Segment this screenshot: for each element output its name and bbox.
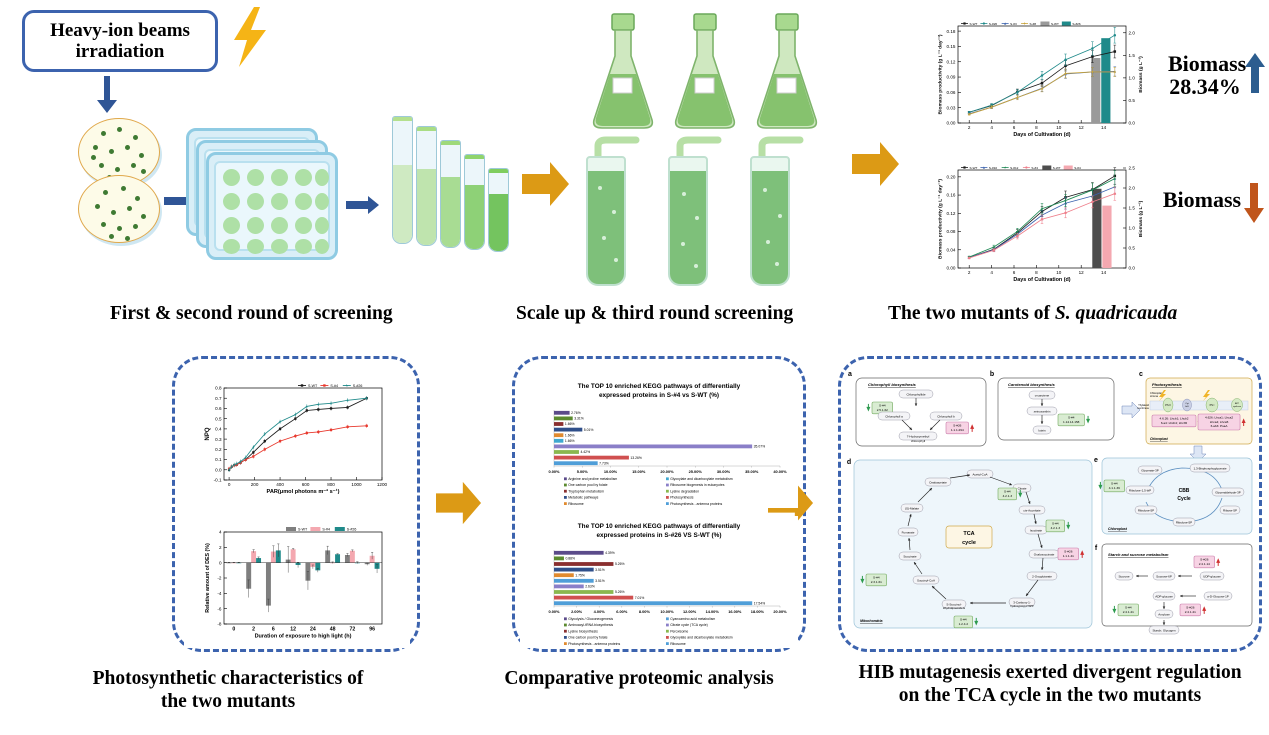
svg-text:lutein: lutein (1038, 428, 1046, 432)
svg-text:0.16: 0.16 (947, 193, 956, 198)
svg-text:0: 0 (228, 482, 231, 487)
orange-arrow-right-3 (436, 480, 482, 526)
svg-text:1.66%: 1.66% (565, 433, 575, 437)
svg-text:Acetyl-CoA: Acetyl-CoA (972, 472, 987, 476)
svg-text:14.00%: 14.00% (706, 609, 720, 614)
svg-text:hydroxypropyl-ThPP: hydroxypropyl-ThPP (1010, 604, 1034, 608)
svg-text:1.1.1.294: 1.1.1.294 (951, 428, 964, 432)
biomass-up-label: Biomass28.34% (1168, 52, 1242, 98)
svg-text:24: 24 (310, 627, 316, 633)
svg-text:6.00%: 6.00% (616, 609, 628, 614)
photobioreactor-1 (586, 156, 626, 286)
arrow-up-icon (1244, 52, 1266, 94)
svg-text:48: 48 (330, 627, 336, 633)
lightning-bolt-icon (228, 6, 272, 68)
growth-chart-top: 0.000.030.060.090.120.150.180.00.51.01.5… (912, 8, 1162, 150)
erlenmeyer-flask-1 (586, 12, 660, 132)
svg-text:0.3: 0.3 (215, 437, 222, 442)
svg-text:S-#4: S-#4 (1031, 166, 1038, 170)
svg-text:Photosynthesis - antenna prote: Photosynthesis - antenna proteins (568, 642, 620, 646)
svg-text:5.26%: 5.26% (615, 562, 625, 566)
svg-text:10.00%: 10.00% (604, 469, 618, 474)
svg-text:Biomass (g L⁻¹): Biomass (g L⁻¹) (1138, 200, 1144, 237)
svg-text:c: c (1139, 371, 1143, 378)
svg-text:1.0: 1.0 (1129, 226, 1136, 231)
svg-text:stroma: stroma (1150, 394, 1158, 398)
svg-text:2: 2 (219, 545, 222, 550)
photobioreactor-3 (750, 156, 790, 286)
svg-text:S-#12: S-#12 (1010, 166, 1019, 170)
svg-text:600: 600 (302, 482, 310, 487)
svg-text:16.00%: 16.00% (728, 609, 742, 614)
svg-text:Fumarate: Fumarate (902, 530, 915, 534)
svg-text:α-carotene: α-carotene (1035, 393, 1050, 397)
svg-text:b6f: b6f (1185, 406, 1188, 408)
svg-text:2.0: 2.0 (1129, 30, 1136, 35)
npq-chart: -0.10.00.10.20.30.40.50.60.70.8020040060… (184, 372, 410, 512)
svg-text:1,3-Bisphosphoglycerate: 1,3-Bisphosphoglycerate (1193, 466, 1226, 470)
svg-text:0.09: 0.09 (947, 75, 956, 80)
svg-text:14: 14 (1101, 270, 1107, 275)
arrow-right-icon-2 (346, 196, 380, 214)
svg-text:Cycle: Cycle (1177, 496, 1191, 502)
svg-text:d: d (847, 459, 851, 466)
svg-text:One carbon pool by folate: One carbon pool by folate (568, 483, 607, 487)
svg-text:0.00: 0.00 (947, 266, 956, 271)
svg-text:Citrate: Citrate (1018, 486, 1027, 490)
svg-text:0.5: 0.5 (1129, 246, 1136, 251)
svg-text:12: 12 (1079, 270, 1085, 275)
svg-text:Amylose: Amylose (1158, 612, 1170, 616)
svg-text:Aminoacyl-tRNA biosynthesis: Aminoacyl-tRNA biosynthesis (568, 623, 613, 627)
erlenmeyer-flask-2 (668, 12, 742, 132)
svg-text:S-WT: S-WT (970, 22, 978, 26)
svg-text:Succinyl-CoA: Succinyl-CoA (917, 578, 935, 582)
svg-text:1.5: 1.5 (1129, 53, 1136, 58)
svg-text:0.2: 0.2 (215, 447, 222, 452)
svg-text:14: 14 (1101, 125, 1107, 130)
svg-text:6: 6 (272, 627, 275, 633)
svg-text:2: 2 (968, 270, 971, 275)
svg-text:12.00%: 12.00% (683, 609, 697, 614)
culture-tube-2 (416, 126, 437, 246)
svg-text:Ribulose-1,5-biP: Ribulose-1,5-biP (1129, 488, 1151, 492)
svg-text:Ribosome: Ribosome (670, 642, 686, 646)
orange-arrow-right-1 (522, 160, 570, 208)
svg-text:Metabolic pathways: Metabolic pathways (568, 496, 598, 500)
svg-text:0.6: 0.6 (215, 406, 222, 411)
svg-text:Glyoxylate and dicarboxylate m: Glyoxylate and dicarboxylate metabolism (670, 636, 733, 640)
svg-text:4: 4 (990, 270, 993, 275)
svg-text:1.0: 1.0 (1129, 76, 1136, 81)
svg-text:Chlorophyll biosynthesis: Chlorophyll biosynthesis (868, 382, 917, 387)
svg-text:35.00%: 35.00% (745, 469, 759, 474)
svg-text:1.66%: 1.66% (565, 422, 575, 426)
svg-text:The TOP 10 enriched KEGG pathw: The TOP 10 enriched KEGG pathways of dif… (578, 383, 741, 390)
svg-text:α-D-Glucose-1P: α-D-Glucose-1P (1207, 594, 1229, 598)
svg-text:(S)-Malate: (S)-Malate (905, 506, 919, 510)
svg-text:ADP-glucose: ADP-glucose (1155, 594, 1173, 598)
svg-text:0.00: 0.00 (947, 121, 956, 126)
svg-text:Biomass productivity (g L⁻¹ da: Biomass productivity (g L⁻¹ day⁻¹) (938, 179, 944, 259)
svg-text:Tryptophan metabolism: Tryptophan metabolism (568, 489, 604, 493)
svg-text:zeinoxanthin: zeinoxanthin (1034, 409, 1051, 413)
svg-text:2.0: 2.0 (1129, 186, 1136, 191)
svg-text:30.00%: 30.00% (717, 469, 731, 474)
svg-text:S-Succinyl-: S-Succinyl- (946, 602, 961, 606)
svg-text:2.5.1.62: 2.5.1.62 (877, 408, 888, 412)
svg-text:4.42%: 4.42% (580, 450, 590, 454)
svg-text:7-Hydroxymethyl: 7-Hydroxymethyl (907, 434, 930, 438)
svg-text:8: 8 (1035, 125, 1038, 130)
svg-text:Sucrose-6P: Sucrose-6P (1156, 574, 1172, 578)
svg-text:Ribulose-5P: Ribulose-5P (1176, 520, 1192, 524)
svg-text:Cyt: Cyt (1185, 402, 1189, 405)
svg-text:35.07%: 35.07% (754, 445, 766, 449)
orange-arrow-right-2 (852, 140, 900, 188)
svg-text:Citrate cycle (TCA cycle): Citrate cycle (TCA cycle) (670, 623, 708, 627)
svg-text:5.01%: 5.01% (584, 428, 594, 432)
culture-tube-4 (464, 154, 485, 250)
svg-text:72: 72 (349, 627, 355, 633)
svg-text:Mitochondria: Mitochondria (860, 619, 883, 623)
caption-pathways: HIB mutagenesis exerted divergent regula… (838, 662, 1262, 707)
culture-tube-1 (392, 116, 413, 244)
svg-text:1000: 1000 (351, 482, 362, 487)
svg-text:0.06: 0.06 (947, 90, 956, 95)
svg-text:One carbon pool by folate: One carbon pool by folate (568, 636, 607, 640)
svg-text:7.01%: 7.01% (635, 596, 645, 600)
hib-irradiation-label: Heavy-ion beams irradiation (25, 20, 215, 63)
svg-text:b: b (990, 371, 994, 378)
svg-text:0.20: 0.20 (947, 174, 956, 179)
svg-text:0.12: 0.12 (947, 211, 956, 216)
svg-text:S-#4: S-#4 (1074, 166, 1081, 170)
culture-tube-3 (440, 140, 461, 248)
svg-text:1200: 1200 (377, 482, 388, 487)
svg-text:6: 6 (1013, 270, 1016, 275)
svg-text:0.03: 0.03 (947, 105, 956, 110)
svg-text:Ribulose-5P: Ribulose-5P (1138, 508, 1154, 512)
svg-text:Biomass (g L⁻¹): Biomass (g L⁻¹) (1138, 56, 1144, 93)
svg-text:0.1: 0.1 (215, 457, 222, 462)
petri-dish-2 (78, 175, 160, 243)
svg-text:chlorophyll: chlorophyll (911, 439, 926, 443)
svg-text:TCA: TCA (963, 531, 974, 537)
svg-text:4.39%: 4.39% (605, 551, 615, 555)
svg-text:6.a4: Lhcb4; Lhcb5: 6.a4: Lhcb4; Lhcb5 (1161, 421, 1188, 425)
svg-text:8: 8 (1035, 270, 1038, 275)
photobioreactor-2 (668, 156, 708, 286)
svg-text:Photosynthesis: Photosynthesis (670, 496, 694, 500)
svg-text:Glycerate-3P: Glycerate-3P (1141, 468, 1159, 472)
svg-text:S-#3: S-#3 (1010, 22, 1017, 26)
svg-text:S-WT: S-WT (1053, 166, 1061, 170)
svg-text:Chlorophyll b: Chlorophyll b (937, 414, 955, 418)
svg-text:1.5: 1.5 (1129, 206, 1136, 211)
svg-text:Succinate: Succinate (903, 554, 917, 558)
svg-text:S-#8: S-#8 (1030, 22, 1037, 26)
svg-text:0.08: 0.08 (947, 229, 956, 234)
svg-text:0.12: 0.12 (947, 59, 956, 64)
svg-text:2.3.1.61: 2.3.1.61 (871, 580, 882, 584)
svg-text:synthase: synthase (1233, 405, 1242, 408)
svg-text:Starch; Glycogen: Starch; Glycogen (1152, 628, 1175, 632)
svg-text:25.00%: 25.00% (689, 469, 703, 474)
svg-text:Arginine and proline metabolis: Arginine and proline metabolism (568, 477, 617, 481)
svg-text:S-#10: S-#10 (989, 166, 998, 170)
svg-text:membrane: membrane (1137, 407, 1150, 410)
svg-text:Glyoxylate and dicarboxylate m: Glyoxylate and dicarboxylate metabolism (670, 477, 733, 481)
svg-text:Photosynthesis - antenna prote: Photosynthesis - antenna proteins (670, 502, 722, 506)
caption-scaleup: Scale up & third round screening (516, 303, 793, 325)
svg-text:S-#26: S-#26 (989, 22, 998, 26)
svg-text:Duration of exposure to high l: Duration of exposure to high light (h) (255, 633, 352, 639)
svg-text:2.4.1.21: 2.4.1.21 (1185, 610, 1196, 614)
svg-text:400: 400 (276, 482, 284, 487)
svg-text:Days of Cultivation (d): Days of Cultivation (d) (1013, 132, 1070, 138)
svg-text:PS I: PS I (1210, 404, 1215, 407)
svg-text:Ribosome biogenesis in eukaryo: Ribosome biogenesis in eukaryotes (670, 483, 725, 487)
caption-proteomic: Comparative proteomic analysis (442, 668, 836, 691)
svg-text:S-#26: S-#26 (353, 384, 363, 388)
svg-text:0.0: 0.0 (1129, 121, 1136, 126)
svg-text:f: f (1095, 545, 1098, 552)
svg-text:CBB: CBB (1179, 488, 1190, 494)
culture-tube-5 (488, 168, 509, 252)
svg-text:Oxalosuccinate: Oxalosuccinate (1034, 552, 1055, 556)
svg-text:-6: -6 (217, 606, 222, 611)
svg-text:S-#4: S-#4 (322, 528, 330, 532)
svg-text:0.0: 0.0 (215, 467, 222, 472)
svg-text:Glycolysis / Gluconeogenesis: Glycolysis / Gluconeogenesis (568, 617, 613, 621)
svg-text:expressed proteins in S-#26 VS: expressed proteins in S-#26 VS S-WT (%) (596, 532, 721, 539)
svg-text:Peroxisome: Peroxisome (670, 629, 688, 633)
svg-text:a: a (848, 371, 852, 378)
svg-text:17.54%: 17.54% (754, 601, 766, 605)
svg-text:S-#26: S-#26 (1072, 22, 1081, 26)
svg-text:1.1.1.41: 1.1.1.41 (1063, 554, 1074, 558)
svg-text:S-#26: S-#26 (347, 528, 357, 532)
svg-text:0.7: 0.7 (215, 396, 222, 401)
svg-text:0.00%: 0.00% (548, 609, 560, 614)
svg-text:0.88%: 0.88% (565, 557, 575, 561)
svg-text:12: 12 (1079, 125, 1085, 130)
svg-text:2: 2 (252, 627, 255, 633)
svg-text:Days of Cultivation (d): Days of Cultivation (d) (1013, 277, 1070, 283)
svg-text:S-WT: S-WT (308, 384, 318, 388)
svg-text:6.ab3: PsaA: 6.ab3: PsaA (1211, 424, 1229, 428)
svg-text:0.8: 0.8 (215, 386, 222, 391)
svg-text:Chloroplast: Chloroplast (1150, 437, 1169, 441)
svg-text:cis-Aconitate: cis-Aconitate (1023, 508, 1041, 512)
svg-text:2-Oxoglutarate: 2-Oxoglutarate (1032, 574, 1052, 578)
svg-text:10.00%: 10.00% (660, 609, 674, 614)
svg-text:2.00%: 2.00% (571, 609, 583, 614)
svg-text:2.4.1.21: 2.4.1.21 (1123, 610, 1134, 614)
svg-text:S-#4: S-#4 (330, 384, 338, 388)
metabolic-pathway-diagram: aChlorophyll biosynthesisChlorophyllideS… (846, 364, 1256, 646)
svg-text:4: 4 (990, 125, 993, 130)
svg-text:The TOP 10 enriched KEGG pathw: The TOP 10 enriched KEGG pathways of dif… (578, 523, 741, 530)
svg-text:4.00%: 4.00% (594, 609, 606, 614)
svg-text:0.0: 0.0 (1129, 266, 1136, 271)
arrow-down-icon-2 (1242, 182, 1266, 224)
svg-text:-2: -2 (217, 576, 222, 581)
des-chart: -8-6-4-20240261224487296Duration of expo… (184, 516, 410, 648)
svg-text:96: 96 (369, 627, 375, 633)
svg-text:Ribose-5P: Ribose-5P (1223, 508, 1237, 512)
svg-text:Sucrose: Sucrose (1118, 574, 1129, 578)
svg-text:2.76%: 2.76% (571, 411, 581, 415)
svg-text:1.2.4.2: 1.2.4.2 (959, 622, 969, 626)
caption-photosynthetic: Photosynthetic characteristics of the tw… (78, 668, 378, 713)
svg-text:3.51%: 3.51% (595, 579, 605, 583)
svg-text:e: e (1094, 457, 1098, 464)
svg-text:5.00%: 5.00% (577, 469, 589, 474)
svg-text:S-WT: S-WT (298, 528, 308, 532)
svg-text:13.26%: 13.26% (630, 456, 642, 460)
svg-text:Photosynthesis: Photosynthesis (1152, 382, 1183, 387)
svg-text:2.5: 2.5 (1129, 166, 1136, 171)
svg-text:Glyceraldehyde-3P: Glyceraldehyde-3P (1215, 490, 1241, 494)
svg-text:18.00%: 18.00% (751, 609, 765, 614)
svg-text:4.2.1.3: 4.2.1.3 (1003, 494, 1013, 498)
svg-text:Chlorophyllide: Chlorophyllide (906, 392, 925, 396)
svg-text:0: 0 (232, 627, 235, 633)
svg-text:1.66%: 1.66% (565, 439, 575, 443)
svg-text:4.2.1.3: 4.2.1.3 (1051, 526, 1061, 530)
svg-text:-4: -4 (217, 591, 222, 596)
svg-text:Oxaloacetate: Oxaloacetate (929, 480, 947, 484)
svg-text:Starch and sucrose metabolism: Starch and sucrose metabolism (1108, 552, 1169, 557)
svg-text:S-WT: S-WT (970, 166, 978, 170)
svg-text:10: 10 (1056, 270, 1062, 275)
svg-text:4: 4 (219, 530, 222, 535)
svg-text:2.63%: 2.63% (585, 585, 595, 589)
svg-text:Ribosome: Ribosome (568, 502, 584, 506)
svg-text:0.18: 0.18 (947, 29, 956, 34)
svg-text:1.75%: 1.75% (575, 573, 585, 577)
svg-text:PAR(μmol photons m⁻² s⁻¹): PAR(μmol photons m⁻² s⁻¹) (267, 488, 340, 495)
svg-text:Lysine biosynthesis: Lysine biosynthesis (568, 629, 598, 633)
svg-text:Chloroplast: Chloroplast (1108, 527, 1128, 531)
svg-text:S-WT: S-WT (1051, 22, 1059, 26)
hib-irradiation-box: Heavy-ion beams irradiation (22, 10, 218, 72)
svg-text:0.5: 0.5 (215, 416, 222, 421)
svg-text:NPQ: NPQ (205, 427, 211, 440)
kegg-chart-s26: The TOP 10 enriched KEGG pathways of dif… (520, 516, 798, 648)
svg-text:Relative amount of DES (%): Relative amount of DES (%) (205, 543, 211, 613)
svg-text:Carotenoid biosynthesis: Carotenoid biosynthesis (1008, 382, 1055, 387)
svg-text:cycle: cycle (962, 540, 976, 546)
svg-text:40.00%: 40.00% (773, 469, 787, 474)
svg-text:Isocitrate: Isocitrate (1030, 528, 1043, 532)
svg-text:2.4.1.14: 2.4.1.14 (1199, 562, 1210, 566)
svg-text:-0.1: -0.1 (214, 478, 222, 483)
svg-text:Chlorophyll a: Chlorophyll a (885, 414, 903, 418)
svg-text:1.14.14.158: 1.14.14.158 (1063, 420, 1080, 424)
svg-text:200: 200 (251, 482, 259, 487)
svg-text:10: 10 (1056, 125, 1062, 130)
svg-text:0.04: 0.04 (947, 247, 956, 252)
svg-text:0.5: 0.5 (1129, 98, 1136, 103)
svg-text:0.00%: 0.00% (548, 469, 560, 474)
svg-text:PS II: PS II (1165, 404, 1171, 407)
svg-text:expressed proteins in S-#4 vs: expressed proteins in S-#4 vs S-WT (%) (599, 392, 719, 399)
svg-text:800: 800 (327, 482, 335, 487)
svg-text:ATP: ATP (1235, 402, 1240, 405)
svg-text:5.26%: 5.26% (615, 590, 625, 594)
biomass-down-label: Biomass (1162, 188, 1242, 211)
erlenmeyer-flask-3 (750, 12, 824, 132)
svg-text:0.4: 0.4 (215, 427, 222, 432)
svg-text:-8: -8 (217, 622, 222, 627)
svg-text:0.15: 0.15 (947, 44, 956, 49)
svg-text:15.00%: 15.00% (632, 469, 646, 474)
growth-chart-bottom: 0.000.040.080.120.160.200.00.51.01.52.02… (912, 150, 1162, 300)
svg-text:Cyanoamino acid metabolism: Cyanoamino acid metabolism (670, 617, 715, 621)
arrow-down-icon (96, 76, 118, 114)
svg-text:12: 12 (290, 627, 296, 633)
svg-text:3.31%: 3.31% (574, 417, 584, 421)
svg-text:6: 6 (1013, 125, 1016, 130)
svg-text:3.51%: 3.51% (595, 568, 605, 572)
svg-text:3-Carboxy-1-: 3-Carboxy-1- (1013, 600, 1031, 604)
svg-text:20.00%: 20.00% (773, 609, 787, 614)
caption-screening: First & second round of screening (110, 303, 393, 325)
svg-text:0: 0 (219, 560, 222, 565)
svg-text:UDP-glucose: UDP-glucose (1203, 574, 1221, 578)
kegg-chart-s4: The TOP 10 enriched KEGG pathways of dif… (520, 376, 798, 508)
svg-text:8.00%: 8.00% (639, 609, 651, 614)
svg-text:Biomass productivity (g L⁻¹ da: Biomass productivity (g L⁻¹ day⁻¹) (938, 34, 944, 114)
svg-text:dihydrolipoamide-E: dihydrolipoamide-E (943, 606, 965, 610)
svg-text:Lysine degradation: Lysine degradation (670, 489, 699, 493)
svg-text:2: 2 (968, 125, 971, 130)
svg-text:20.00%: 20.00% (660, 469, 674, 474)
svg-text:4.1.1.39: 4.1.1.39 (1109, 486, 1120, 490)
caption-two-mutants: The two mutants of S. quadricauda (888, 303, 1177, 325)
svg-text:7.73%: 7.73% (599, 461, 609, 465)
well-plate-front (206, 152, 338, 260)
